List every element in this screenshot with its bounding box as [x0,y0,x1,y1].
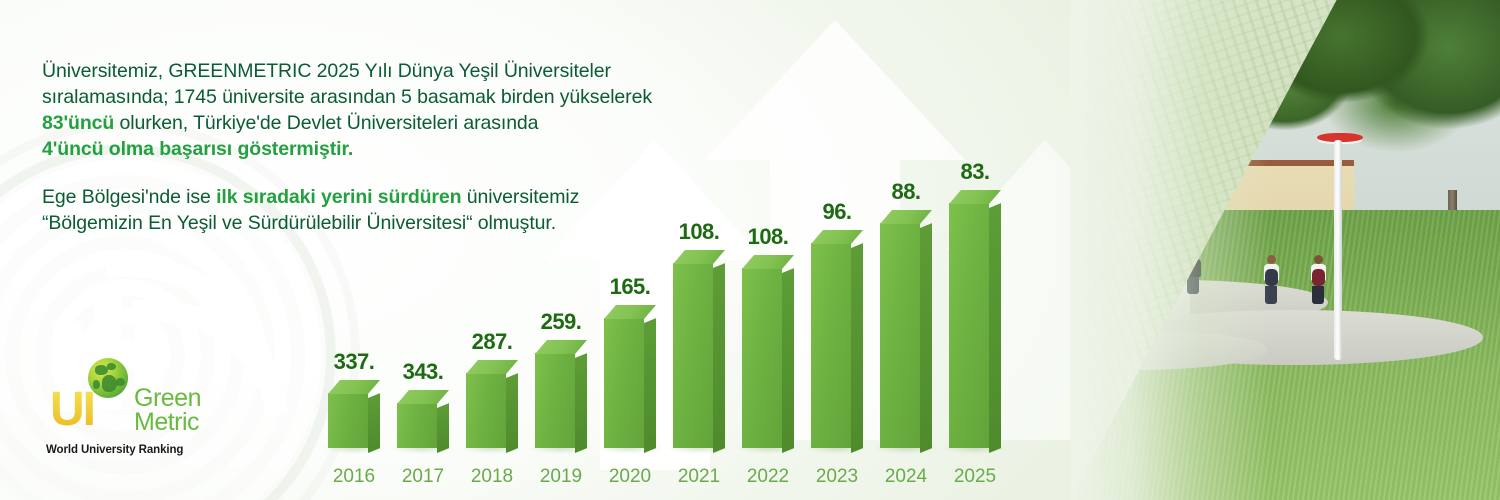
bar-top-face [673,250,725,264]
bar-front-face [466,373,506,448]
bar-side-face [851,243,863,453]
greenmetric-banner: Üniversitemiz, GREENMETRIC 2025 Yılı Dün… [0,0,1500,500]
bar-side-face [989,203,1001,453]
bar-value-label: 83. [944,159,1006,185]
bar-year-label-2024: 2024 [875,466,937,488]
p2-line2: “Bölgemizin En Yeşil ve Sürdürülebilir Ü… [42,212,556,234]
bar-top-face [604,305,656,319]
p2-line1-a: Ege Bölgesi'nde ise [42,186,216,208]
bar-year-label-2016: 2016 [323,466,385,488]
bar-top-face [466,360,518,374]
bar-top-face [949,190,1001,204]
bar-2016: 337.2016 [328,393,380,448]
p1-line3: olurken, Türkiye'de Devlet Üniversiteler… [114,112,538,134]
bar-front-face [949,203,989,448]
bar-top-face [811,230,863,244]
bar-front-face [811,243,851,448]
uigreenmetric-logo: UI Green Metric World University Ranking [46,358,194,466]
bar-side-face [575,353,587,453]
headline-copy: Üniversitemiz, GREENMETRIC 2025 Yılı Dün… [42,58,762,236]
bar-top-face [397,390,449,404]
bar-side-face [713,263,725,453]
bar-2017: 343.2017 [397,403,449,448]
logo-word-green: Green [134,386,201,410]
paragraph-1: Üniversitemiz, GREENMETRIC 2025 Yılı Dün… [42,58,762,162]
bar-side-face [437,403,449,453]
bar-value-label: 96. [806,199,868,225]
bar-value-label: 259. [530,309,592,335]
bar-2022: 108.2022 [742,268,794,448]
paragraph-2: Ege Bölgesi'nde ise ilk sıradaki yerini … [42,184,762,236]
logo-word-metric: Metric [134,410,201,434]
bar-value-label: 165. [599,274,661,300]
bar-front-face [535,353,575,448]
p1-rank-national: 4'üncü olma başarısı göstermiştir. [42,138,353,160]
bar-year-label-2021: 2021 [668,466,730,488]
bar-top-face [880,210,932,224]
bar-2018: 287.2018 [466,373,518,448]
bar-2025: 83.2025 [949,203,1001,448]
bar-side-face [506,373,518,453]
bar-value-label: 343. [392,359,454,385]
bar-side-face [644,318,656,453]
bar-front-face [880,223,920,448]
globe-icon [88,358,128,398]
logo-wordmark: Green Metric [134,386,201,434]
bar-2019: 259.2019 [535,353,587,448]
bar-front-face [328,393,368,448]
bar-value-label: 88. [875,179,937,205]
bar-year-label-2025: 2025 [944,466,1006,488]
photo-left-fade [1070,0,1270,500]
bar-2021: 108.2021 [673,263,725,448]
bar-side-face [782,268,794,453]
bar-side-face [920,223,932,453]
bar-2020: 165.2020 [604,318,656,448]
logo-subtitle: World University Ranking [46,444,222,456]
bar-year-label-2022: 2022 [737,466,799,488]
bar-value-label: 287. [461,329,523,355]
campus-photo [1070,0,1500,500]
bar-year-label-2020: 2020 [599,466,661,488]
bar-year-label-2023: 2023 [806,466,868,488]
bar-top-face [535,340,587,354]
bar-year-label-2017: 2017 [392,466,454,488]
lamp-post [1334,140,1342,360]
bar-value-label: 337. [323,349,385,375]
bar-front-face [673,263,713,448]
bar-front-face [397,403,437,448]
bar-front-face [604,318,644,448]
bar-top-face [742,255,794,269]
p1-rank-world: 83'üncü [42,112,114,134]
logo-mark-ui: UI [50,386,94,434]
p2-region-highlight: ilk sıradaki yerini sürdüren [216,186,461,208]
bar-side-face [368,393,380,453]
bar-2023: 96.2023 [811,243,863,448]
bar-year-label-2018: 2018 [461,466,523,488]
bar-front-face [742,268,782,448]
p1-line2: sıralamasında; 1745 üniversite arasından… [42,86,652,108]
bar-year-label-2019: 2019 [530,466,592,488]
bar-top-face [328,380,380,394]
bar-2024: 88.2024 [880,223,932,448]
p1-line1: Üniversitemiz, GREENMETRIC 2025 Yılı Dün… [42,60,611,82]
p2-line1-b: üniversitemiz [461,186,579,208]
